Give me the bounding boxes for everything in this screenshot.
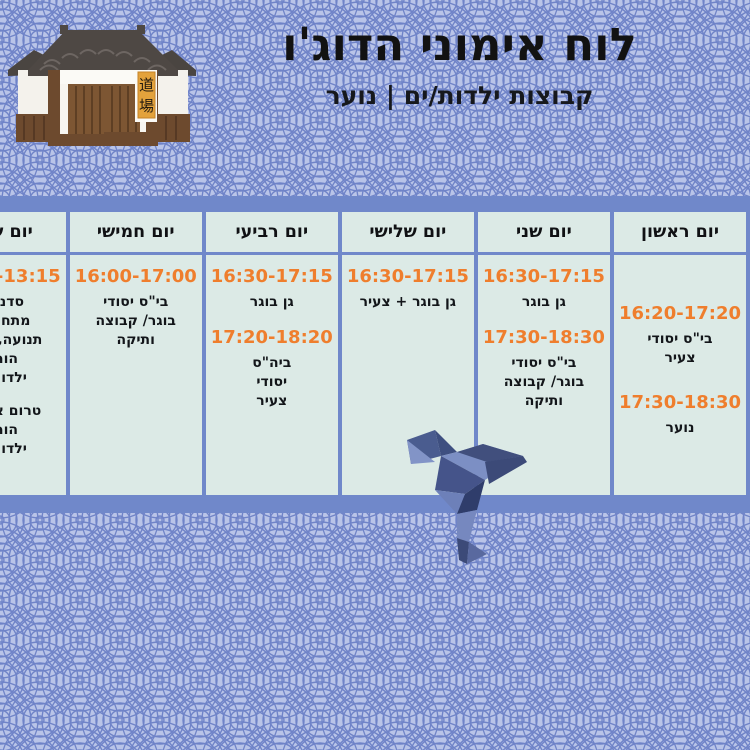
- day-body-friday: 12:30-13:15סדנאותמתחלפותתנועה, יצירההורי…: [0, 255, 66, 495]
- slot-time: 17:30-18:30: [619, 391, 741, 414]
- page-subtitle: קבוצות ילדות/ים | נוער: [187, 81, 732, 110]
- day-body-tuesday: 16:30-17:15גן בוגר + צעיר: [342, 255, 474, 495]
- schedule-slot[interactable]: 16:30-17:15גן בוגר: [211, 265, 333, 312]
- day-column-sunday: יום ראשון16:20-17:20בי"ס יסודיצעיר17:30-…: [610, 212, 750, 495]
- day-header-friday: יום שישי: [0, 212, 66, 255]
- schedule-slot[interactable]: טרום אייקידוהוריםילדות.ים: [0, 402, 61, 459]
- schedule-slot[interactable]: 16:30-17:15גן בוגר + צעיר: [347, 265, 469, 312]
- schedule-slot[interactable]: 12:30-13:15סדנאותמתחלפותתנועה, יצירההורי…: [0, 265, 61, 388]
- dojo-building-icon: 道 場: [4, 14, 200, 160]
- slot-description: בי"ס יסודיבוגר/ קבוצהותיקה: [483, 354, 605, 411]
- slot-time: 16:30-17:15: [211, 265, 333, 288]
- schedule-slot[interactable]: 17:20-18:20ביה"סיסודיצעיר: [211, 326, 333, 411]
- day-header-sunday: יום ראשון: [614, 212, 746, 255]
- title-block: לוח אימוני הדוג'ו קבוצות ילדות/ים | נוער: [187, 18, 732, 110]
- day-header-wednesday: יום רביעי: [206, 212, 338, 255]
- slot-description: סדנאותמתחלפותתנועה, יצירההוריםילדות.ים: [0, 293, 61, 388]
- slot-spacer: [483, 316, 605, 326]
- weekly-schedule-table: יום ראשון16:20-17:20בי"ס יסודיצעיר17:30-…: [0, 212, 750, 495]
- slot-description: נוער: [619, 419, 741, 438]
- slot-time: 17:30-18:30: [483, 326, 605, 349]
- day-body-wednesday: 16:30-17:15גן בוגר17:20-18:20ביה"סיסודיצ…: [206, 255, 338, 495]
- day-column-wednesday: יום רביעי16:30-17:15גן בוגר17:20-18:20בי…: [202, 212, 338, 495]
- slot-spacer: [619, 373, 741, 391]
- day-column-thursday: יום חמישי16:00-17:00בי"ס יסודיבוגר/ קבוצ…: [66, 212, 202, 495]
- day-body-sunday: 16:20-17:20בי"ס יסודיצעיר17:30-18:30נוער: [614, 255, 746, 495]
- table-bottom-band: [0, 495, 750, 513]
- page-title: לוח אימוני הדוג'ו: [187, 18, 732, 71]
- slot-description: טרום אייקידוהוריםילדות.ים: [0, 402, 61, 459]
- slot-time: 16:30-17:15: [483, 265, 605, 288]
- schedule-slot[interactable]: 17:30-18:30בי"ס יסודיבוגר/ קבוצהותיקה: [483, 326, 605, 411]
- slot-description: גן בוגר + צעיר: [347, 293, 469, 312]
- day-body-thursday: 16:00-17:00בי"ס יסודיבוגר/ קבוצהותיקה: [70, 255, 202, 495]
- slot-description: בי"ס יסודיבוגר/ קבוצהותיקה: [75, 293, 197, 350]
- schedule-slot[interactable]: 16:20-17:20בי"ס יסודיצעיר: [619, 302, 741, 368]
- dojo-sign-kanji-1: 道: [139, 76, 154, 94]
- dojo-sign-kanji-2: 場: [139, 97, 154, 115]
- schedule-slot[interactable]: 16:00-17:00בי"ס יסודיבוגר/ קבוצהותיקה: [75, 265, 197, 350]
- slot-time: 12:30-13:15: [0, 265, 61, 288]
- day-header-monday: יום שני: [478, 212, 610, 255]
- day-header-thursday: יום חמישי: [70, 212, 202, 255]
- schedule-slot[interactable]: 16:30-17:15גן בוגר: [483, 265, 605, 312]
- slot-description: ביה"סיסודיצעיר: [211, 354, 333, 411]
- table-top-band: [0, 196, 750, 212]
- slot-spacer: [211, 316, 333, 326]
- slot-spacer: [0, 392, 61, 402]
- slot-description: בי"ס יסודיצעיר: [619, 330, 741, 368]
- slot-description: גן בוגר: [483, 293, 605, 312]
- day-column-friday: יום שישי12:30-13:15סדנאותמתחלפותתנועה, י…: [0, 212, 66, 495]
- slot-time: 16:30-17:15: [347, 265, 469, 288]
- day-body-monday: 16:30-17:15גן בוגר17:30-18:30בי"ס יסודיב…: [478, 255, 610, 495]
- schedule-slot[interactable]: 17:30-18:30נוער: [619, 391, 741, 438]
- slot-description: גן בוגר: [211, 293, 333, 312]
- day-column-tuesday: יום שלישי16:30-17:15גן בוגר + צעיר: [338, 212, 474, 495]
- day-column-monday: יום שני16:30-17:15גן בוגר17:30-18:30בי"ס…: [474, 212, 610, 495]
- slot-time: 16:00-17:00: [75, 265, 197, 288]
- slot-time: 17:20-18:20: [211, 326, 333, 349]
- slot-time: 16:20-17:20: [619, 302, 741, 325]
- day-header-tuesday: יום שלישי: [342, 212, 474, 255]
